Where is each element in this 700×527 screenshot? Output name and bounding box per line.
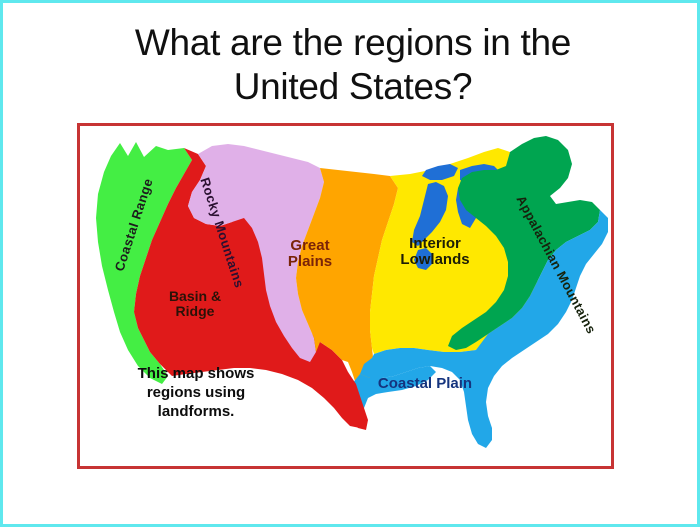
page-title: What are the regions in the United State… (3, 21, 700, 109)
slide-canvas: What are the regions in the United State… (0, 0, 700, 527)
page-title-line-1: What are the regions in the (3, 21, 700, 65)
map-stage: Coastal Range Rocky Mountains Basin & Ri… (80, 126, 611, 466)
united-states-landform-regions-map (80, 126, 611, 466)
page-title-line-2: United States? (3, 65, 700, 109)
map-frame: Coastal Range Rocky Mountains Basin & Ri… (77, 123, 614, 469)
